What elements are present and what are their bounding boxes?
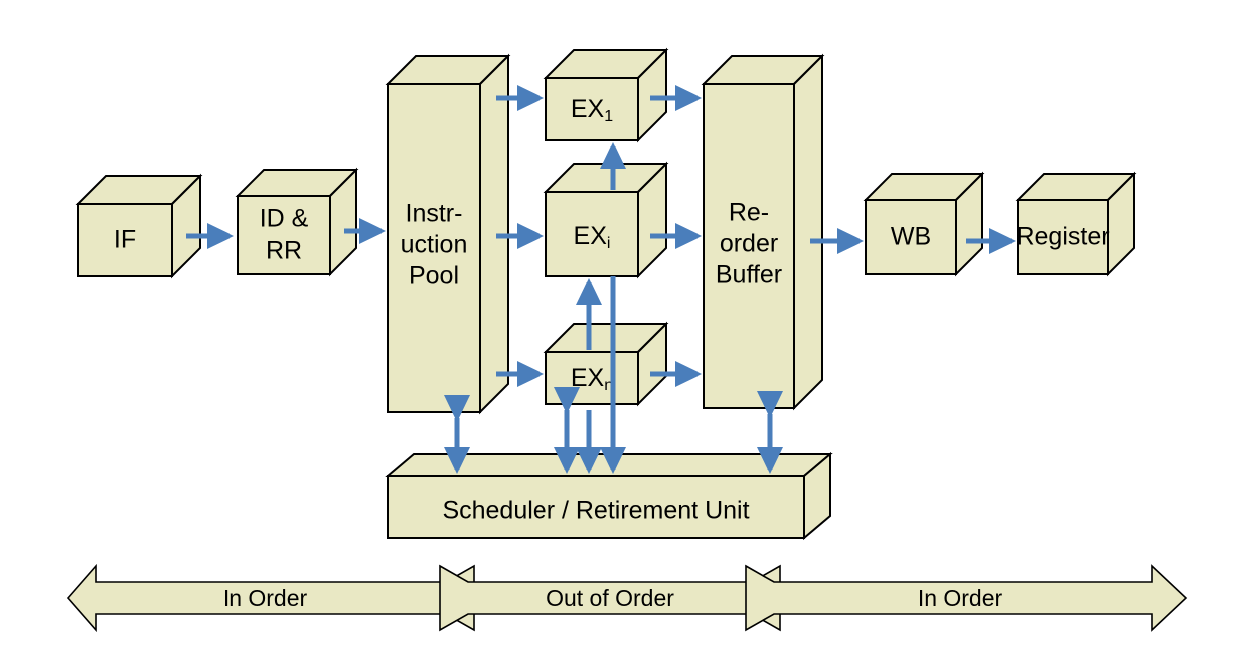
block-scheduler-retirement-unit[interactable]: Scheduler / Retirement Unit: [388, 454, 830, 538]
block-instruction-pool-label-line1: Instr-: [406, 200, 463, 228]
block-reorder-buffer-label-line2: order: [720, 230, 778, 258]
block-if[interactable]: IF: [78, 176, 200, 276]
block-id-rr-label-line1: ID &: [260, 205, 309, 233]
block-instruction-pool-label-line2: uction: [401, 231, 468, 259]
block-if-label: IF: [114, 226, 136, 254]
block-scheduler-label: Scheduler / Retirement Unit: [442, 497, 749, 525]
block-id-rr-label-line2: RR: [266, 237, 302, 265]
block-register[interactable]: Register: [1016, 174, 1134, 274]
block-wb[interactable]: WB: [866, 174, 982, 274]
block-reorder-buffer[interactable]: Re- order Buffer: [704, 56, 822, 408]
block-reorder-buffer-label-line3: Buffer: [716, 261, 782, 289]
block-wb-label: WB: [891, 223, 931, 251]
diagram-canvas: IF ID & RR Instr- uction Pool EX1 EXi: [0, 0, 1249, 661]
phase-band-in-order-left-label: In Order: [223, 585, 308, 611]
phase-band-out-of-order-label: Out of Order: [546, 585, 674, 611]
block-ex-1-label-subscript: 1: [604, 108, 613, 125]
block-instruction-pool[interactable]: Instr- uction Pool: [388, 56, 508, 412]
block-ex-1[interactable]: EX1: [546, 50, 666, 140]
block-instruction-pool-label-line3: Pool: [409, 262, 459, 290]
block-id-rr[interactable]: ID & RR: [238, 170, 356, 274]
phase-band-in-order-right-label: In Order: [918, 585, 1003, 611]
block-ex-i-label-base: EX: [574, 222, 608, 250]
block-scheduler-top-face: [388, 454, 830, 476]
block-reorder-buffer-side-face: [794, 56, 822, 408]
block-ex-n-label-base: EX: [571, 364, 605, 392]
block-ex-1-label-base: EX: [571, 95, 605, 123]
block-reorder-buffer-label-line1: Re-: [729, 199, 769, 227]
block-register-label: Register: [1016, 223, 1109, 251]
block-ex-i[interactable]: EXi: [546, 164, 666, 276]
block-ex-i-label-subscript: i: [607, 235, 611, 252]
block-ex-n[interactable]: EXn: [546, 324, 666, 404]
pipeline-diagram: IF ID & RR Instr- uction Pool EX1 EXi: [0, 0, 1249, 661]
block-ex-i-label: EXi: [574, 222, 611, 253]
